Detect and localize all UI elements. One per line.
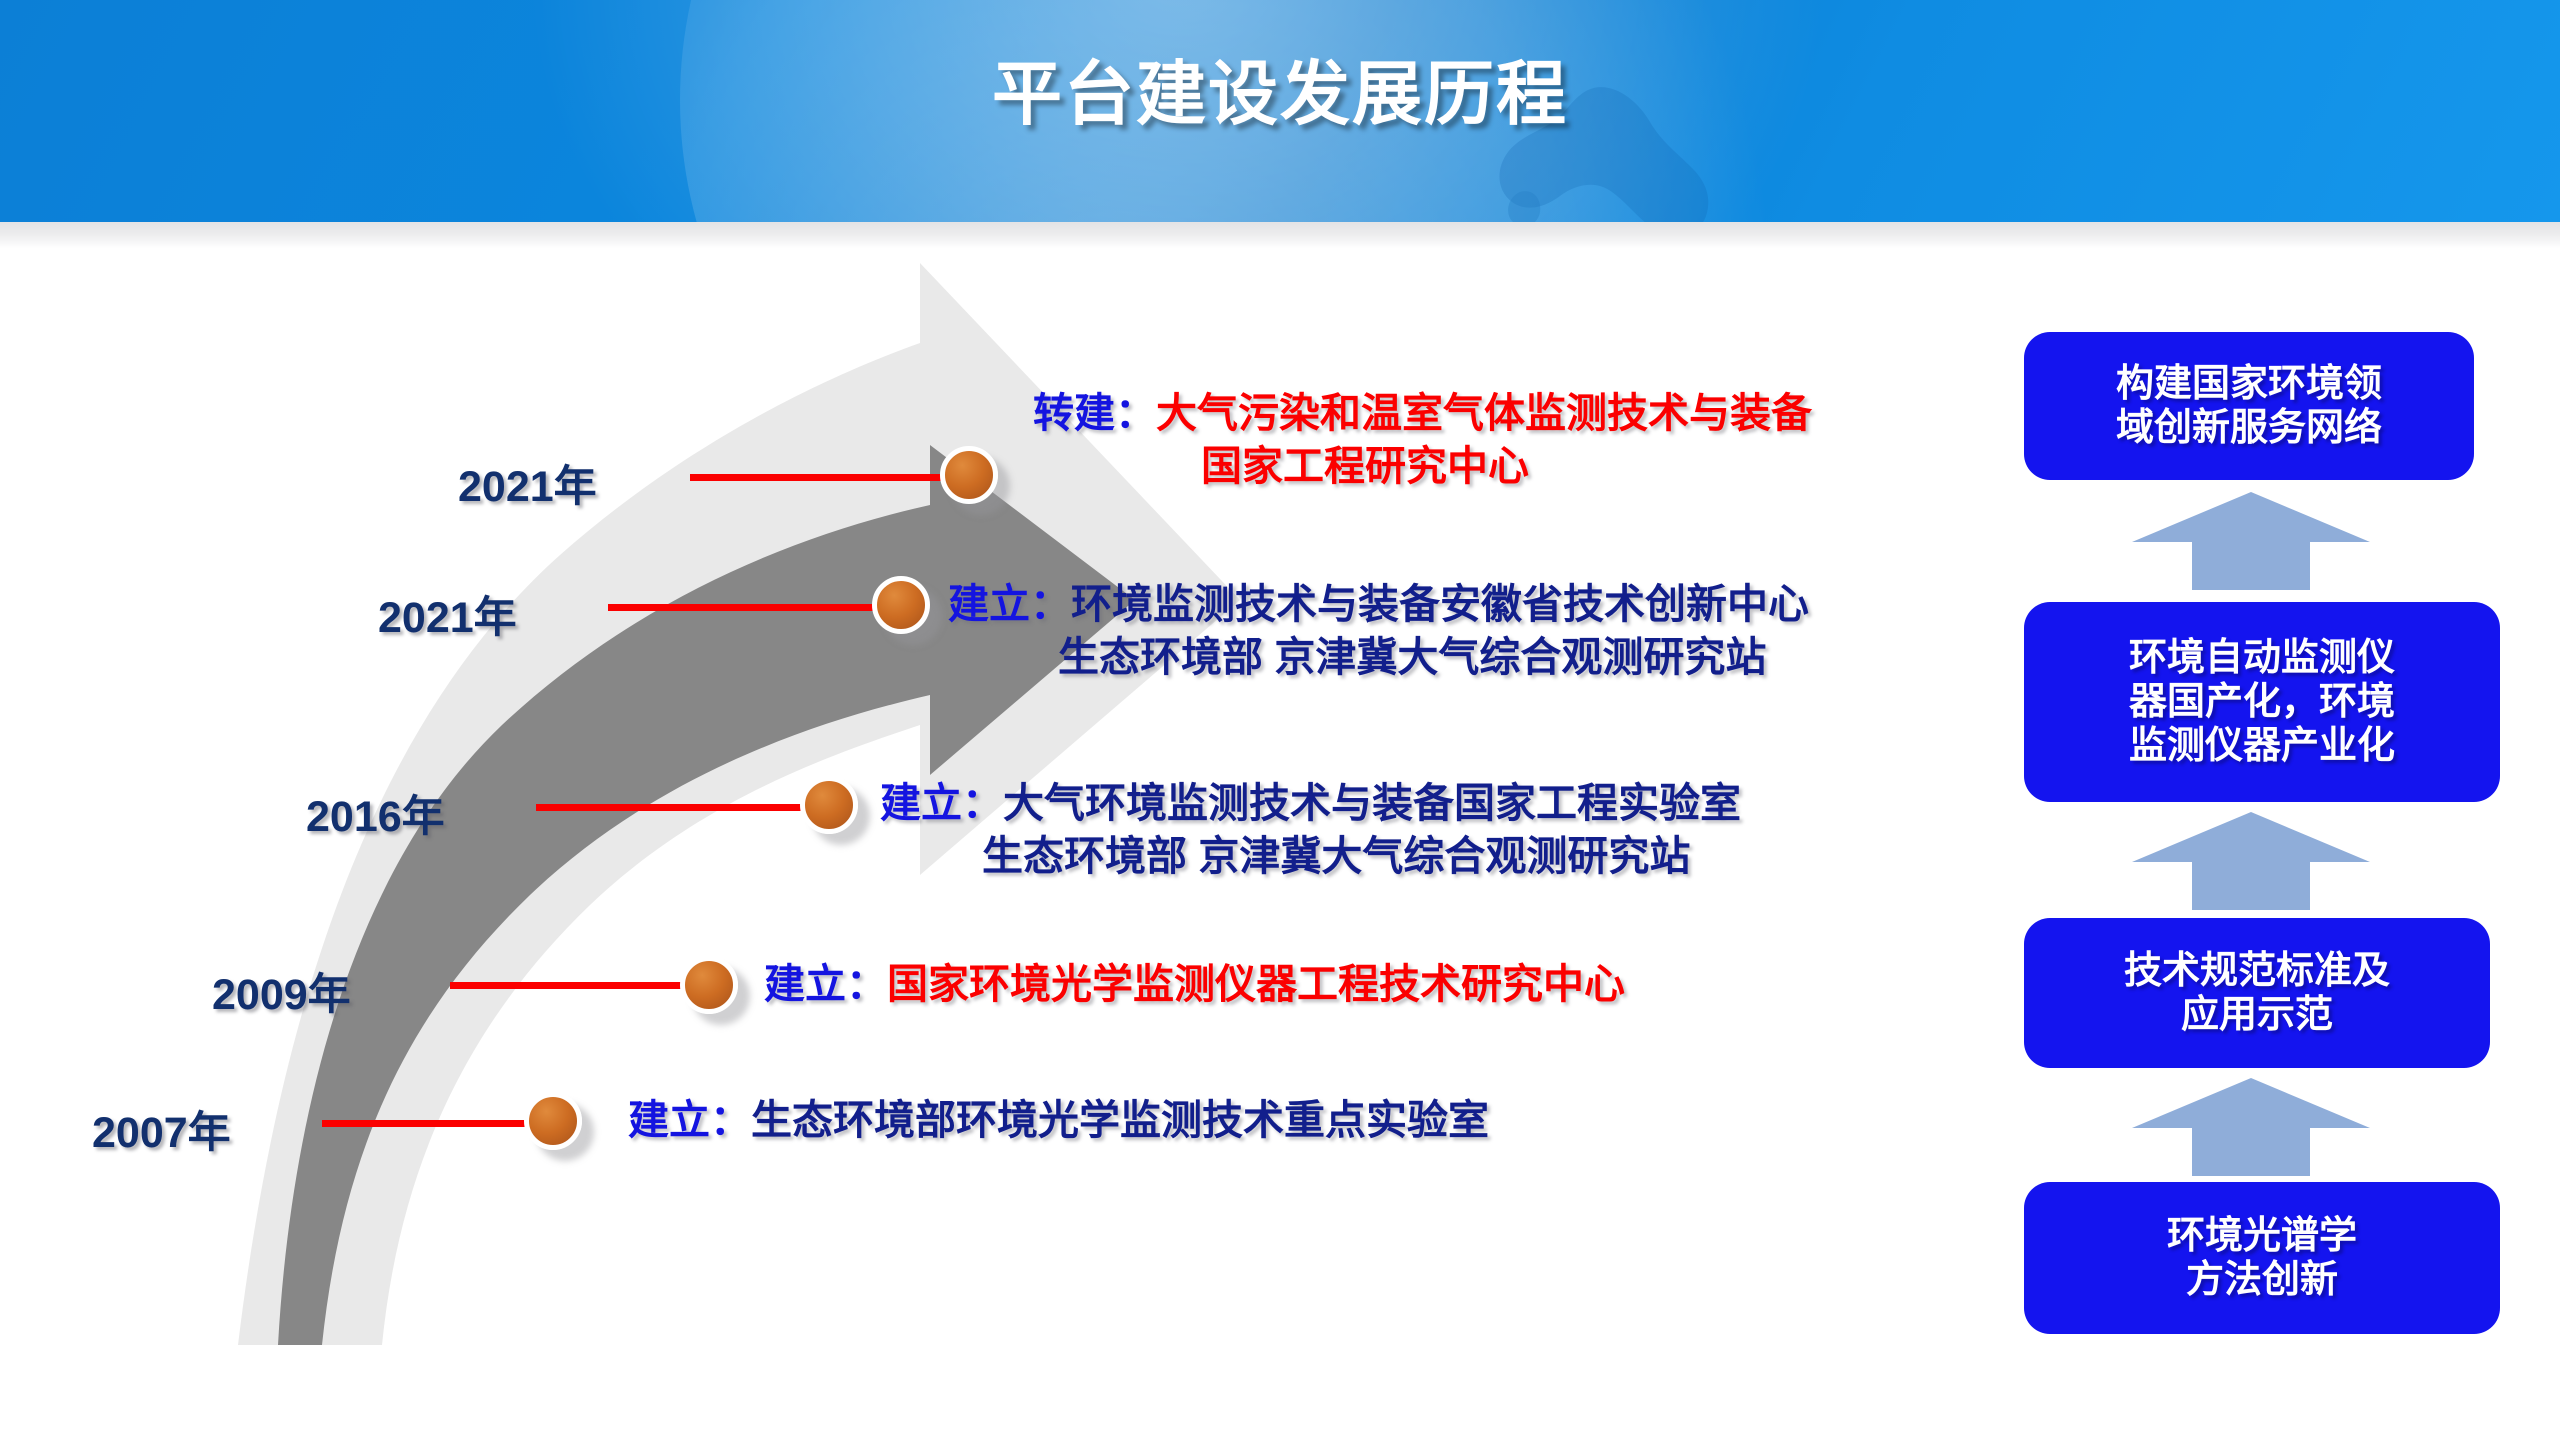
timeline-entry-line2: 生态环境部 京津冀大气综合观测研究站 <box>948 631 1809 684</box>
timeline-entry-label: 建立： <box>628 1097 751 1143</box>
timeline-entry-label: 建立： <box>764 961 887 1007</box>
timeline-entry-text: 转建：大气污染和温室气体监测技术与装备 国家工程研究中心 <box>1033 387 1812 494</box>
timeline-entry-text: 建立：国家环境光学监测仪器工程技术研究中心 <box>764 958 1625 1011</box>
up-arrow-icon-2 <box>2132 812 2370 910</box>
timeline-marker-dot <box>872 576 930 634</box>
timeline-entry-text: 建立：环境监测技术与装备安徽省技术创新中心 生态环境部 京津冀大气综合观测研究站 <box>948 578 1809 685</box>
timeline-connector-line <box>322 1120 556 1127</box>
up-arrow-icon-3 <box>2132 1078 2370 1176</box>
timeline-marker-dot <box>940 446 998 504</box>
timeline-year-label: 2021年 <box>458 452 597 514</box>
capability-box-instrument-localization[interactable]: 环境自动监测仪 器国产化，环境 监测仪器产业化 <box>2024 602 2500 802</box>
timeline-marker-dot <box>680 956 738 1014</box>
timeline-entry-line1: 环境监测技术与装备安徽省技术创新中心 <box>1071 581 1809 627</box>
timeline-entry-text: 建立：生态环境部环境光学监测技术重点实验室 <box>628 1094 1489 1147</box>
timeline-entry-line1: 生态环境部环境光学监测技术重点实验室 <box>751 1097 1489 1143</box>
timeline-entry-line2: 国家工程研究中心 <box>1033 440 1812 493</box>
capability-box-line2: 方法创新 <box>2167 1258 2357 1302</box>
timeline-marker-dot <box>524 1092 582 1150</box>
capability-box-line2: 器国产化，环境 <box>2129 680 2395 724</box>
capability-box-line2: 域创新服务网络 <box>2116 406 2382 450</box>
capability-box-line2: 应用示范 <box>2124 993 2390 1037</box>
timeline-connector-line <box>450 982 694 989</box>
timeline-entry-label: 建立： <box>948 581 1071 627</box>
capability-box-line3: 监测仪器产业化 <box>2129 724 2395 768</box>
capability-box-line1: 环境光谱学 <box>2167 1214 2357 1258</box>
timeline-entry-text: 建立：大气环境监测技术与装备国家工程实验室 生态环境部 京津冀大气综合观测研究站 <box>880 777 1741 884</box>
timeline-entry-line1: 大气环境监测技术与装备国家工程实验室 <box>1003 780 1741 826</box>
timeline-entry-label: 建立： <box>880 780 1003 826</box>
timeline-year-label: 2009年 <box>212 960 351 1022</box>
timeline-connector-line <box>536 804 802 811</box>
timeline-year-label: 2016年 <box>306 782 445 844</box>
timeline-year-label: 2007年 <box>92 1098 231 1160</box>
timeline-connector-line <box>690 474 942 481</box>
capability-stack: 构建国家环境领 域创新服务网络 环境自动监测仪 器国产化，环境 监测仪器产业化 … <box>2024 0 2524 1440</box>
timeline-entry-line2: 生态环境部 京津冀大气综合观测研究站 <box>880 830 1741 883</box>
capability-box-spectroscopy[interactable]: 环境光谱学 方法创新 <box>2024 1182 2500 1334</box>
timeline-year-label: 2021年 <box>378 583 517 645</box>
up-arrow-icon-1 <box>2132 492 2370 590</box>
capability-box-line1: 构建国家环境领 <box>2116 362 2382 406</box>
capability-box-standards[interactable]: 技术规范标准及 应用示范 <box>2024 918 2490 1068</box>
timeline-marker-dot <box>800 776 858 834</box>
capability-box-network[interactable]: 构建国家环境领 域创新服务网络 <box>2024 332 2474 480</box>
timeline-entry-line1: 大气污染和温室气体监测技术与装备 <box>1156 390 1812 436</box>
timeline-entry-label: 转建： <box>1033 390 1156 436</box>
capability-box-line1: 环境自动监测仪 <box>2129 636 2395 680</box>
capability-box-line1: 技术规范标准及 <box>2124 949 2390 993</box>
timeline-entry-line1: 国家环境光学监测仪器工程技术研究中心 <box>887 961 1625 1007</box>
timeline-connector-line <box>608 604 874 611</box>
